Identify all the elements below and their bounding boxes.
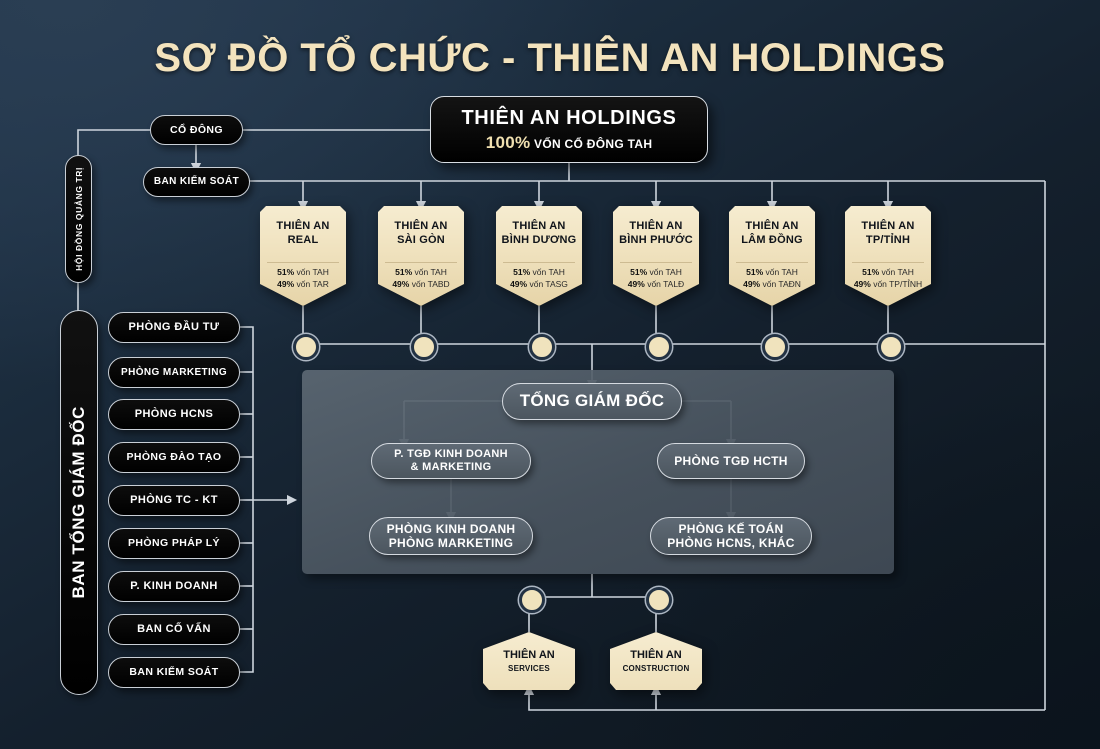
capital-src-1: vốn TAH — [415, 267, 447, 277]
subsidiary-body: THIÊN AN SÀI GÒN 51% vốn TAH 49% vốn TAB… — [378, 206, 464, 306]
service-unit-body: THIÊN AN SERVICES — [483, 632, 575, 690]
shareholders-label: CỔ ĐÔNG — [170, 124, 223, 136]
connector-dot-2 — [529, 334, 555, 360]
subsidiary-name-line2: BÌNH PHƯỚC — [619, 234, 693, 246]
department-label: PHÒNG MARKETING — [121, 367, 227, 379]
subsidiary-name-line1: THIÊN AN — [861, 220, 914, 232]
admin-dept-line2: PHÒNG HCNS, KHÁC — [667, 536, 794, 550]
connector-dot-4 — [762, 334, 788, 360]
subsidiary-card-1[interactable]: THIÊN AN SÀI GÒN 51% vốn TAH 49% vốn TAB… — [378, 206, 464, 306]
deputy-admin-label: PHÒNG TGĐ HCTH — [674, 454, 788, 468]
department-item-0[interactable]: PHÒNG ĐẦU TƯ — [108, 312, 240, 343]
capital-pct-1: 51% — [746, 267, 763, 277]
admin-department-node[interactable]: PHÒNG KẾ TOÁN PHÒNG HCNS, KHÁC — [650, 517, 812, 555]
subsidiary-card-4[interactable]: THIÊN AN LÂM ĐỒNG 51% vốn TAH 49% vốn TA… — [729, 206, 815, 306]
department-label: PHÒNG HCNS — [135, 408, 214, 421]
subsidiary-card-5[interactable]: THIÊN AN TP/TỈNH 51% vốn TAH 49% vốn TP/… — [845, 206, 931, 306]
capital-pct-1: 51% — [395, 267, 412, 277]
capital-src-2: vốn TP/TỈNH — [873, 279, 922, 289]
department-label: PHÒNG ĐẦU TƯ — [129, 321, 220, 334]
sales-department-label: PHÒNG KINH DOANH PHÒNG MARKETING — [387, 522, 516, 551]
ceo-label: TỔNG GIÁM ĐỐC — [520, 391, 665, 411]
ceo-node[interactable]: TỔNG GIÁM ĐỐC — [502, 383, 682, 420]
divider — [267, 262, 339, 263]
capital-src-1: vốn TAH — [766, 267, 798, 277]
subsidiary-card-0[interactable]: THIÊN AN REAL 51% vốn TAH 49% vốn TAR — [260, 206, 346, 306]
subsidiary-name-line2: TP/TỈNH — [866, 234, 910, 246]
admin-dept-line1: PHÒNG KẾ TOÁN — [678, 522, 783, 536]
subsidiary-name-line1: THIÊN AN — [512, 220, 565, 232]
board-of-directors-label: HỘI ĐỒNG QUẢNG TRỊ — [74, 167, 84, 271]
capital-src-2: vốn TASG — [529, 279, 567, 289]
connector-dot-3 — [646, 334, 672, 360]
subsidiary-name-line2: REAL — [288, 234, 319, 246]
department-item-1[interactable]: PHÒNG MARKETING — [108, 357, 240, 388]
connector-dot-1 — [411, 334, 437, 360]
capital-pct-2: 49% — [510, 279, 527, 289]
subsidiary-body: THIÊN AN BÌNH DƯƠNG 51% vốn TAH 49% vốn … — [496, 206, 582, 306]
admin-department-label: PHÒNG KẾ TOÁN PHÒNG HCNS, KHÁC — [667, 522, 794, 551]
capital-pct-1: 51% — [513, 267, 530, 277]
capital-src-1: vốn TAH — [533, 267, 565, 277]
board-of-directors-node[interactable]: HỘI ĐỒNG QUẢNG TRỊ — [65, 155, 92, 283]
capital-pct-1: 51% — [630, 267, 647, 277]
service-unit-name: THIÊN AN — [610, 649, 702, 663]
executive-board-node[interactable]: BAN TỔNG GIÁM ĐỐC — [60, 310, 98, 695]
subsidiary-capital: 51% vốn TAH 49% vốn TASG — [496, 266, 582, 291]
subsidiary-name-line1: THIÊN AN — [394, 220, 447, 232]
org-chart-canvas: SƠ ĐỒ TỔ CHỨC - THIÊN AN HOLDINGS — [0, 0, 1100, 749]
subsidiary-capital: 51% vốn TAH 49% vốn TAĐN — [729, 266, 815, 291]
headquarters-box[interactable]: THIÊN AN HOLDINGS 100% VỐN CỔ ĐÔNG TAH — [430, 96, 708, 163]
department-label: PHÒNG ĐÀO TẠO — [126, 451, 221, 463]
service-unit-subtitle: CONSTRUCTION — [610, 664, 702, 673]
department-item-6[interactable]: P. KINH DOANH — [108, 571, 240, 602]
department-item-3[interactable]: PHÒNG ĐÀO TẠO — [108, 442, 240, 473]
sales-department-node[interactable]: PHÒNG KINH DOANH PHÒNG MARKETING — [369, 517, 533, 555]
subsidiary-name-line1: THIÊN AN — [276, 220, 329, 232]
capital-src-2: vốn TAĐN — [762, 279, 800, 289]
sales-dept-line1: PHÒNG KINH DOANH — [387, 522, 516, 536]
subsidiary-capital: 51% vốn TAH 49% vốn TP/TỈNH — [845, 266, 931, 291]
department-label: P. KINH DOANH — [130, 580, 218, 593]
supervisory-board-node[interactable]: BAN KIỂM SOÁT — [143, 167, 250, 197]
department-item-7[interactable]: BAN CỐ VẤN — [108, 614, 240, 645]
department-item-4[interactable]: PHÒNG TC - KT — [108, 485, 240, 516]
subsidiary-capital: 51% vốn TAH 49% vốn TABD — [378, 266, 464, 291]
subsidiary-body: THIÊN AN BÌNH PHƯỚC 51% vốn TAH 49% vốn … — [613, 206, 699, 306]
subsidiary-body: THIÊN AN REAL 51% vốn TAH 49% vốn TAR — [260, 206, 346, 306]
subsidiary-body: THIÊN AN LÂM ĐỒNG 51% vốn TAH 49% vốn TA… — [729, 206, 815, 306]
deputy-sales-line2: & MARKETING — [411, 461, 492, 473]
connector-dot-0 — [293, 334, 319, 360]
subsidiary-name: THIÊN AN SÀI GÒN — [378, 220, 464, 248]
capital-pct-2: 49% — [743, 279, 760, 289]
department-item-8[interactable]: BAN KIỂM SOÁT — [108, 657, 240, 688]
deputy-sales-node[interactable]: P. TGĐ KINH DOANH & MARKETING — [371, 443, 531, 479]
deputy-sales-label: P. TGĐ KINH DOANH & MARKETING — [394, 448, 508, 474]
divider — [736, 262, 808, 263]
capital-pct-2: 49% — [277, 279, 294, 289]
service-unit-name: THIÊN AN — [483, 649, 575, 663]
subsidiary-name: THIÊN AN BÌNH PHƯỚC — [613, 220, 699, 248]
subsidiary-card-3[interactable]: THIÊN AN BÌNH PHƯỚC 51% vốn TAH 49% vốn … — [613, 206, 699, 306]
subsidiary-name: THIÊN AN BÌNH DƯƠNG — [496, 220, 582, 248]
supervisory-board-label: BAN KIỂM SOÁT — [154, 176, 239, 188]
service-unit-0[interactable]: THIÊN AN SERVICES — [483, 632, 575, 690]
department-label: BAN CỐ VẤN — [137, 623, 211, 636]
service-unit-subtitle: SERVICES — [483, 664, 575, 673]
capital-src-1: vốn TAH — [650, 267, 682, 277]
sales-dept-line2: PHÒNG MARKETING — [389, 536, 514, 550]
subsidiary-name: THIÊN AN TP/TỈNH — [845, 220, 931, 248]
department-label: PHÒNG PHÁP LÝ — [128, 537, 220, 549]
department-item-5[interactable]: PHÒNG PHÁP LÝ — [108, 528, 240, 559]
capital-pct-2: 49% — [392, 279, 409, 289]
subsidiary-name-line2: BÌNH DƯƠNG — [502, 234, 577, 246]
headquarters-ownership: 100% VỐN CỔ ĐÔNG TAH — [486, 133, 653, 153]
headquarters-name: THIÊN AN HOLDINGS — [461, 107, 676, 130]
service-connector-dot-0 — [519, 587, 545, 613]
subsidiary-capital: 51% vốn TAH 49% vốn TALĐ — [613, 266, 699, 291]
capital-pct-2: 49% — [628, 279, 645, 289]
subsidiary-name-line1: THIÊN AN — [629, 220, 682, 232]
deputy-sales-line1: P. TGĐ KINH DOANH — [394, 448, 508, 460]
subsidiary-name: THIÊN AN REAL — [260, 220, 346, 248]
subsidiary-name: THIÊN AN LÂM ĐỒNG — [729, 220, 815, 248]
subsidiary-name-line2: LÂM ĐỒNG — [741, 234, 802, 246]
capital-src-2: vốn TALĐ — [647, 279, 684, 289]
capital-pct-2: 49% — [854, 279, 871, 289]
subsidiary-card-2[interactable]: THIÊN AN BÌNH DƯƠNG 51% vốn TAH 49% vốn … — [496, 206, 582, 306]
department-item-2[interactable]: PHÒNG HCNS — [108, 399, 240, 430]
capital-src-1: vốn TAH — [297, 267, 329, 277]
divider — [385, 262, 457, 263]
subsidiary-body: THIÊN AN TP/TỈNH 51% vốn TAH 49% vốn TP/… — [845, 206, 931, 306]
department-label: PHÒNG TC - KT — [130, 494, 218, 507]
capital-pct-1: 51% — [277, 267, 294, 277]
connector-dot-5 — [878, 334, 904, 360]
capital-src-1: vốn TAH — [882, 267, 914, 277]
subsidiary-name-line2: SÀI GÒN — [397, 234, 445, 246]
ownership-percent: 100% — [486, 133, 531, 152]
service-unit-1[interactable]: THIÊN AN CONSTRUCTION — [610, 632, 702, 690]
divider — [852, 262, 924, 263]
capital-src-2: vốn TABD — [412, 279, 450, 289]
department-label: BAN KIỂM SOÁT — [129, 666, 218, 678]
divider — [620, 262, 692, 263]
subsidiary-name-line1: THIÊN AN — [745, 220, 798, 232]
ownership-text: VỐN CỔ ĐÔNG TAH — [534, 137, 652, 151]
capital-src-2: vốn TAR — [297, 279, 329, 289]
capital-pct-1: 51% — [862, 267, 879, 277]
divider — [503, 262, 575, 263]
subsidiary-capital: 51% vốn TAH 49% vốn TAR — [260, 266, 346, 291]
deputy-admin-node[interactable]: PHÒNG TGĐ HCTH — [657, 443, 805, 479]
service-connector-dot-1 — [646, 587, 672, 613]
service-unit-body: THIÊN AN CONSTRUCTION — [610, 632, 702, 690]
executive-board-label: BAN TỔNG GIÁM ĐỐC — [69, 406, 89, 598]
shareholders-node[interactable]: CỔ ĐÔNG — [150, 115, 243, 145]
